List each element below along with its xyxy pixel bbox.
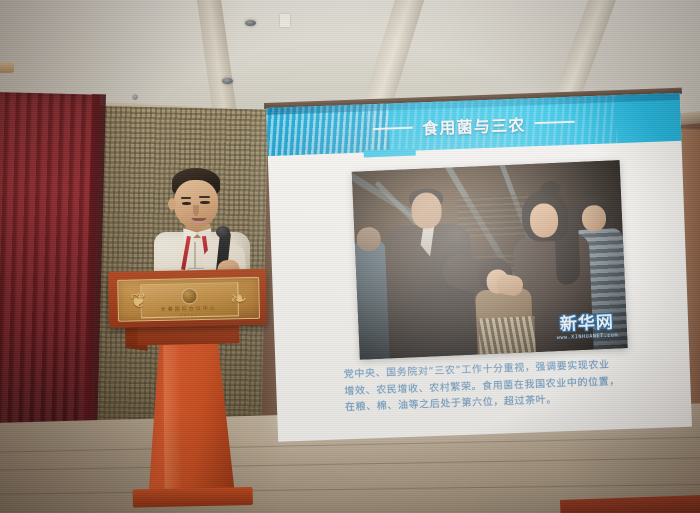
xinhua-watermark: 新华网 www.XINHUANET.com [556, 314, 618, 341]
speaker-mouth [191, 218, 207, 223]
projection-screen: 食用菌与三农 [266, 93, 692, 442]
speaker-eyebrow [199, 196, 210, 198]
sprinkler-icon [132, 94, 138, 100]
speaker-nose [193, 205, 199, 216]
podium-column-highlight [162, 345, 183, 491]
ceiling-tag [280, 14, 290, 27]
ceiling-light-icon [222, 78, 233, 84]
title-dash-left [373, 127, 413, 130]
speaker-eyebrow [181, 197, 191, 199]
corner-lamp-icon [0, 62, 14, 73]
xinhua-logo-text: 新华网 [556, 314, 618, 334]
speaker-eye [200, 201, 210, 204]
slide-surface: 食用菌与三农 [266, 93, 692, 442]
slide-body-text: 党中央、国务院对“三农”工作十分重视，强调要实现农业 增效、农民增收、农村繁荣。… [344, 356, 666, 417]
podium: ❦ ❧ 长春国际会议中心 HOTEL [108, 269, 271, 513]
slide-band-accent-tab [364, 149, 416, 158]
ceiling-light-icon [245, 20, 256, 26]
podium-base [133, 487, 253, 508]
slide-photo: 新华网 www.XINHUANET.com [352, 160, 628, 360]
title-dash-right [534, 121, 574, 124]
speaker-eye [182, 202, 191, 205]
slide-title: 食用菌与三农 [422, 112, 526, 140]
speaker-ear [168, 198, 176, 210]
conference-photo-scene: 食用菌与三农 [0, 0, 700, 513]
podium-column [145, 341, 234, 493]
podium-nameplate-panel: ❦ ❧ 长春国际会议中心 HOTEL [117, 277, 260, 322]
podium-top: ❦ ❧ 长春国际会议中心 HOTEL [108, 269, 267, 328]
